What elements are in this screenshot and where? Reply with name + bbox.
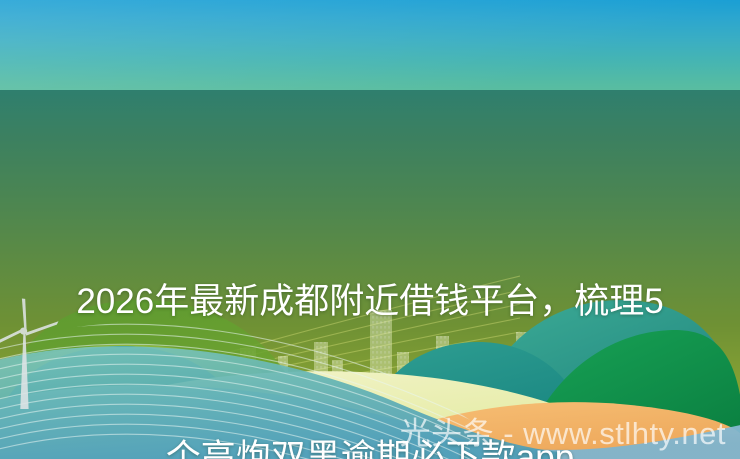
watermark: 光头条 - www.stlhty.net	[400, 415, 726, 453]
poster-image: 2026年最新成都附近借钱平台，梳理5 个高炮双黑逾期必下款app 光头条 - …	[0, 0, 740, 459]
headline-line-1: 2026年最新成都附近借钱平台，梳理5	[0, 276, 740, 328]
